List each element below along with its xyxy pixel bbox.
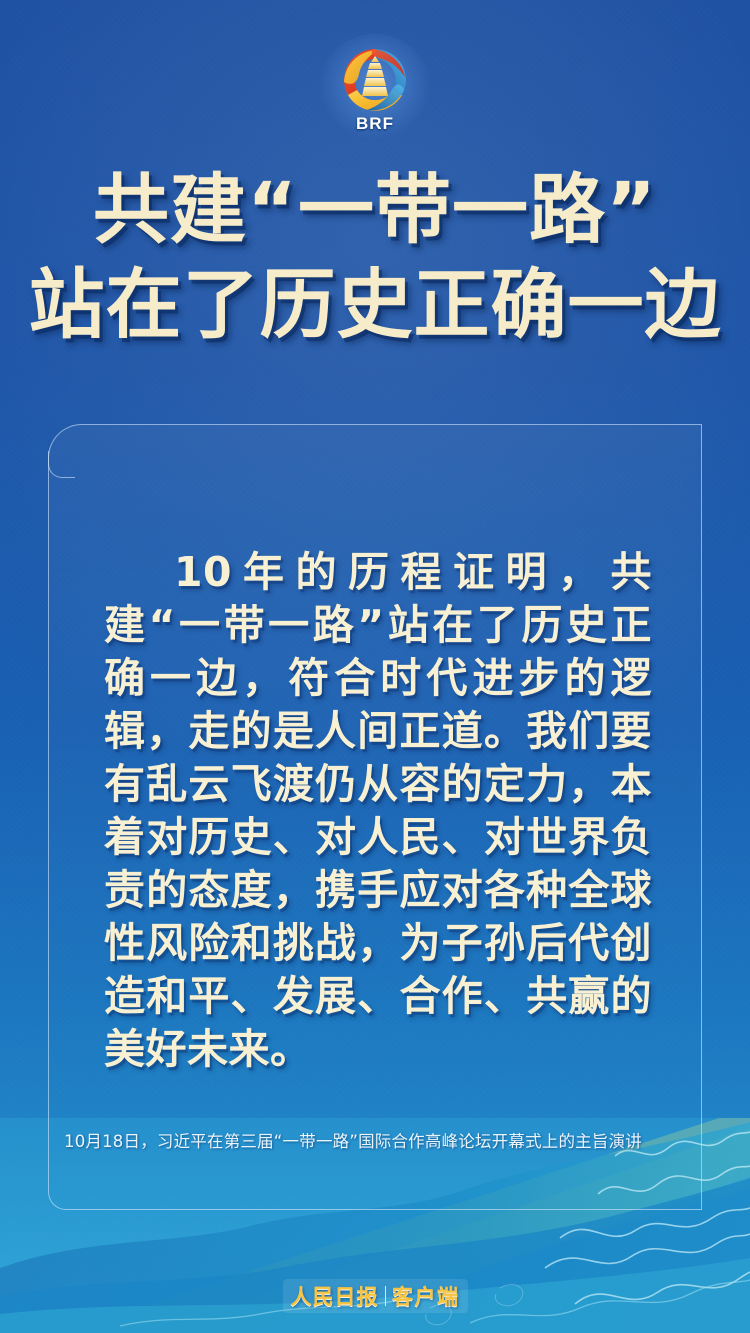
page-title: 共建“一带一路” 站在了历史正确一边 bbox=[0, 170, 750, 344]
headline-line-2: 站在了历史正确一边 bbox=[0, 265, 750, 344]
logo-divider bbox=[385, 1286, 387, 1306]
publisher-logo: 人民日报 客户端 bbox=[0, 1279, 750, 1313]
quote-text: 10年的历程证明，共建“一带一路”站在了历史正确一边，符合时代进步的逻辑，走的是… bbox=[104, 546, 652, 1076]
pagoda-icon bbox=[362, 56, 388, 96]
poster-canvas: BRF 共建“一带一路” 站在了历史正确一边 10年的历程证明，共建“一带一路”… bbox=[0, 0, 750, 1333]
brf-swirl-icon bbox=[332, 44, 418, 122]
brf-wordmark: BRF bbox=[332, 114, 418, 134]
card-corner-notch bbox=[48, 451, 75, 478]
product-name: 客户端 bbox=[392, 1281, 460, 1311]
headline-line-1: 共建“一带一路” bbox=[0, 170, 750, 249]
publisher-name: 人民日报 bbox=[291, 1281, 379, 1311]
brf-emblem: BRF bbox=[0, 44, 750, 136]
quote-source-caption: 10月18日，习近平在第三届“一带一路”国际合作高峰论坛开幕式上的主旨演讲 bbox=[64, 1128, 694, 1152]
